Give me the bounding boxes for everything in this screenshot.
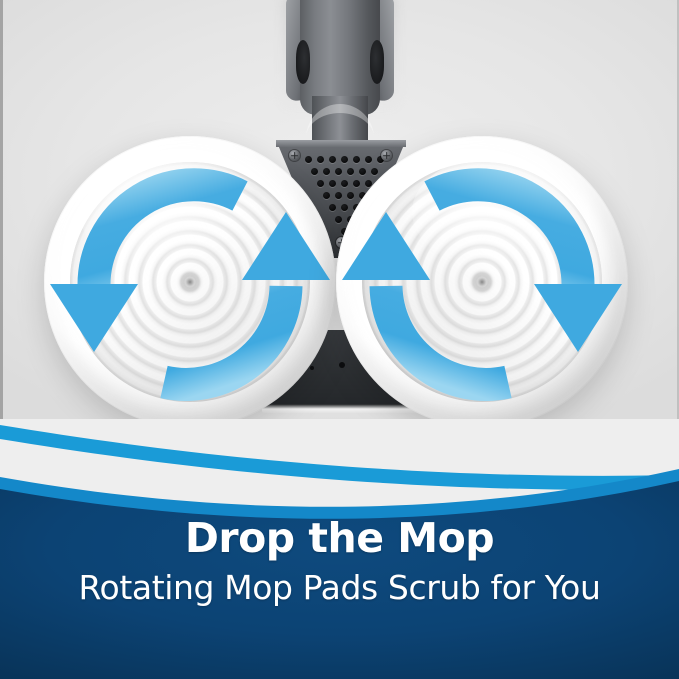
left-rotating-mop-pad (44, 136, 336, 428)
banner-headline: Drop the Mop (185, 517, 494, 560)
banner-subheadline: Rotating Mop Pads Scrub for You (79, 570, 601, 606)
right-rotation-arrow-icon (336, 136, 628, 428)
product-feature-graphic: Drop the Mop Rotating Mop Pads Scrub for… (0, 0, 679, 679)
bottom-banner: Drop the Mop Rotating Mop Pads Scrub for… (0, 419, 679, 679)
left-rotation-arrow-icon (44, 136, 336, 428)
right-rotating-mop-pad (336, 136, 628, 428)
product-photo-area (0, 0, 679, 470)
handle-notch-left (296, 40, 310, 84)
banner-text-block: Drop the Mop Rotating Mop Pads Scrub for… (0, 499, 679, 679)
handle-notch-right (370, 40, 384, 84)
